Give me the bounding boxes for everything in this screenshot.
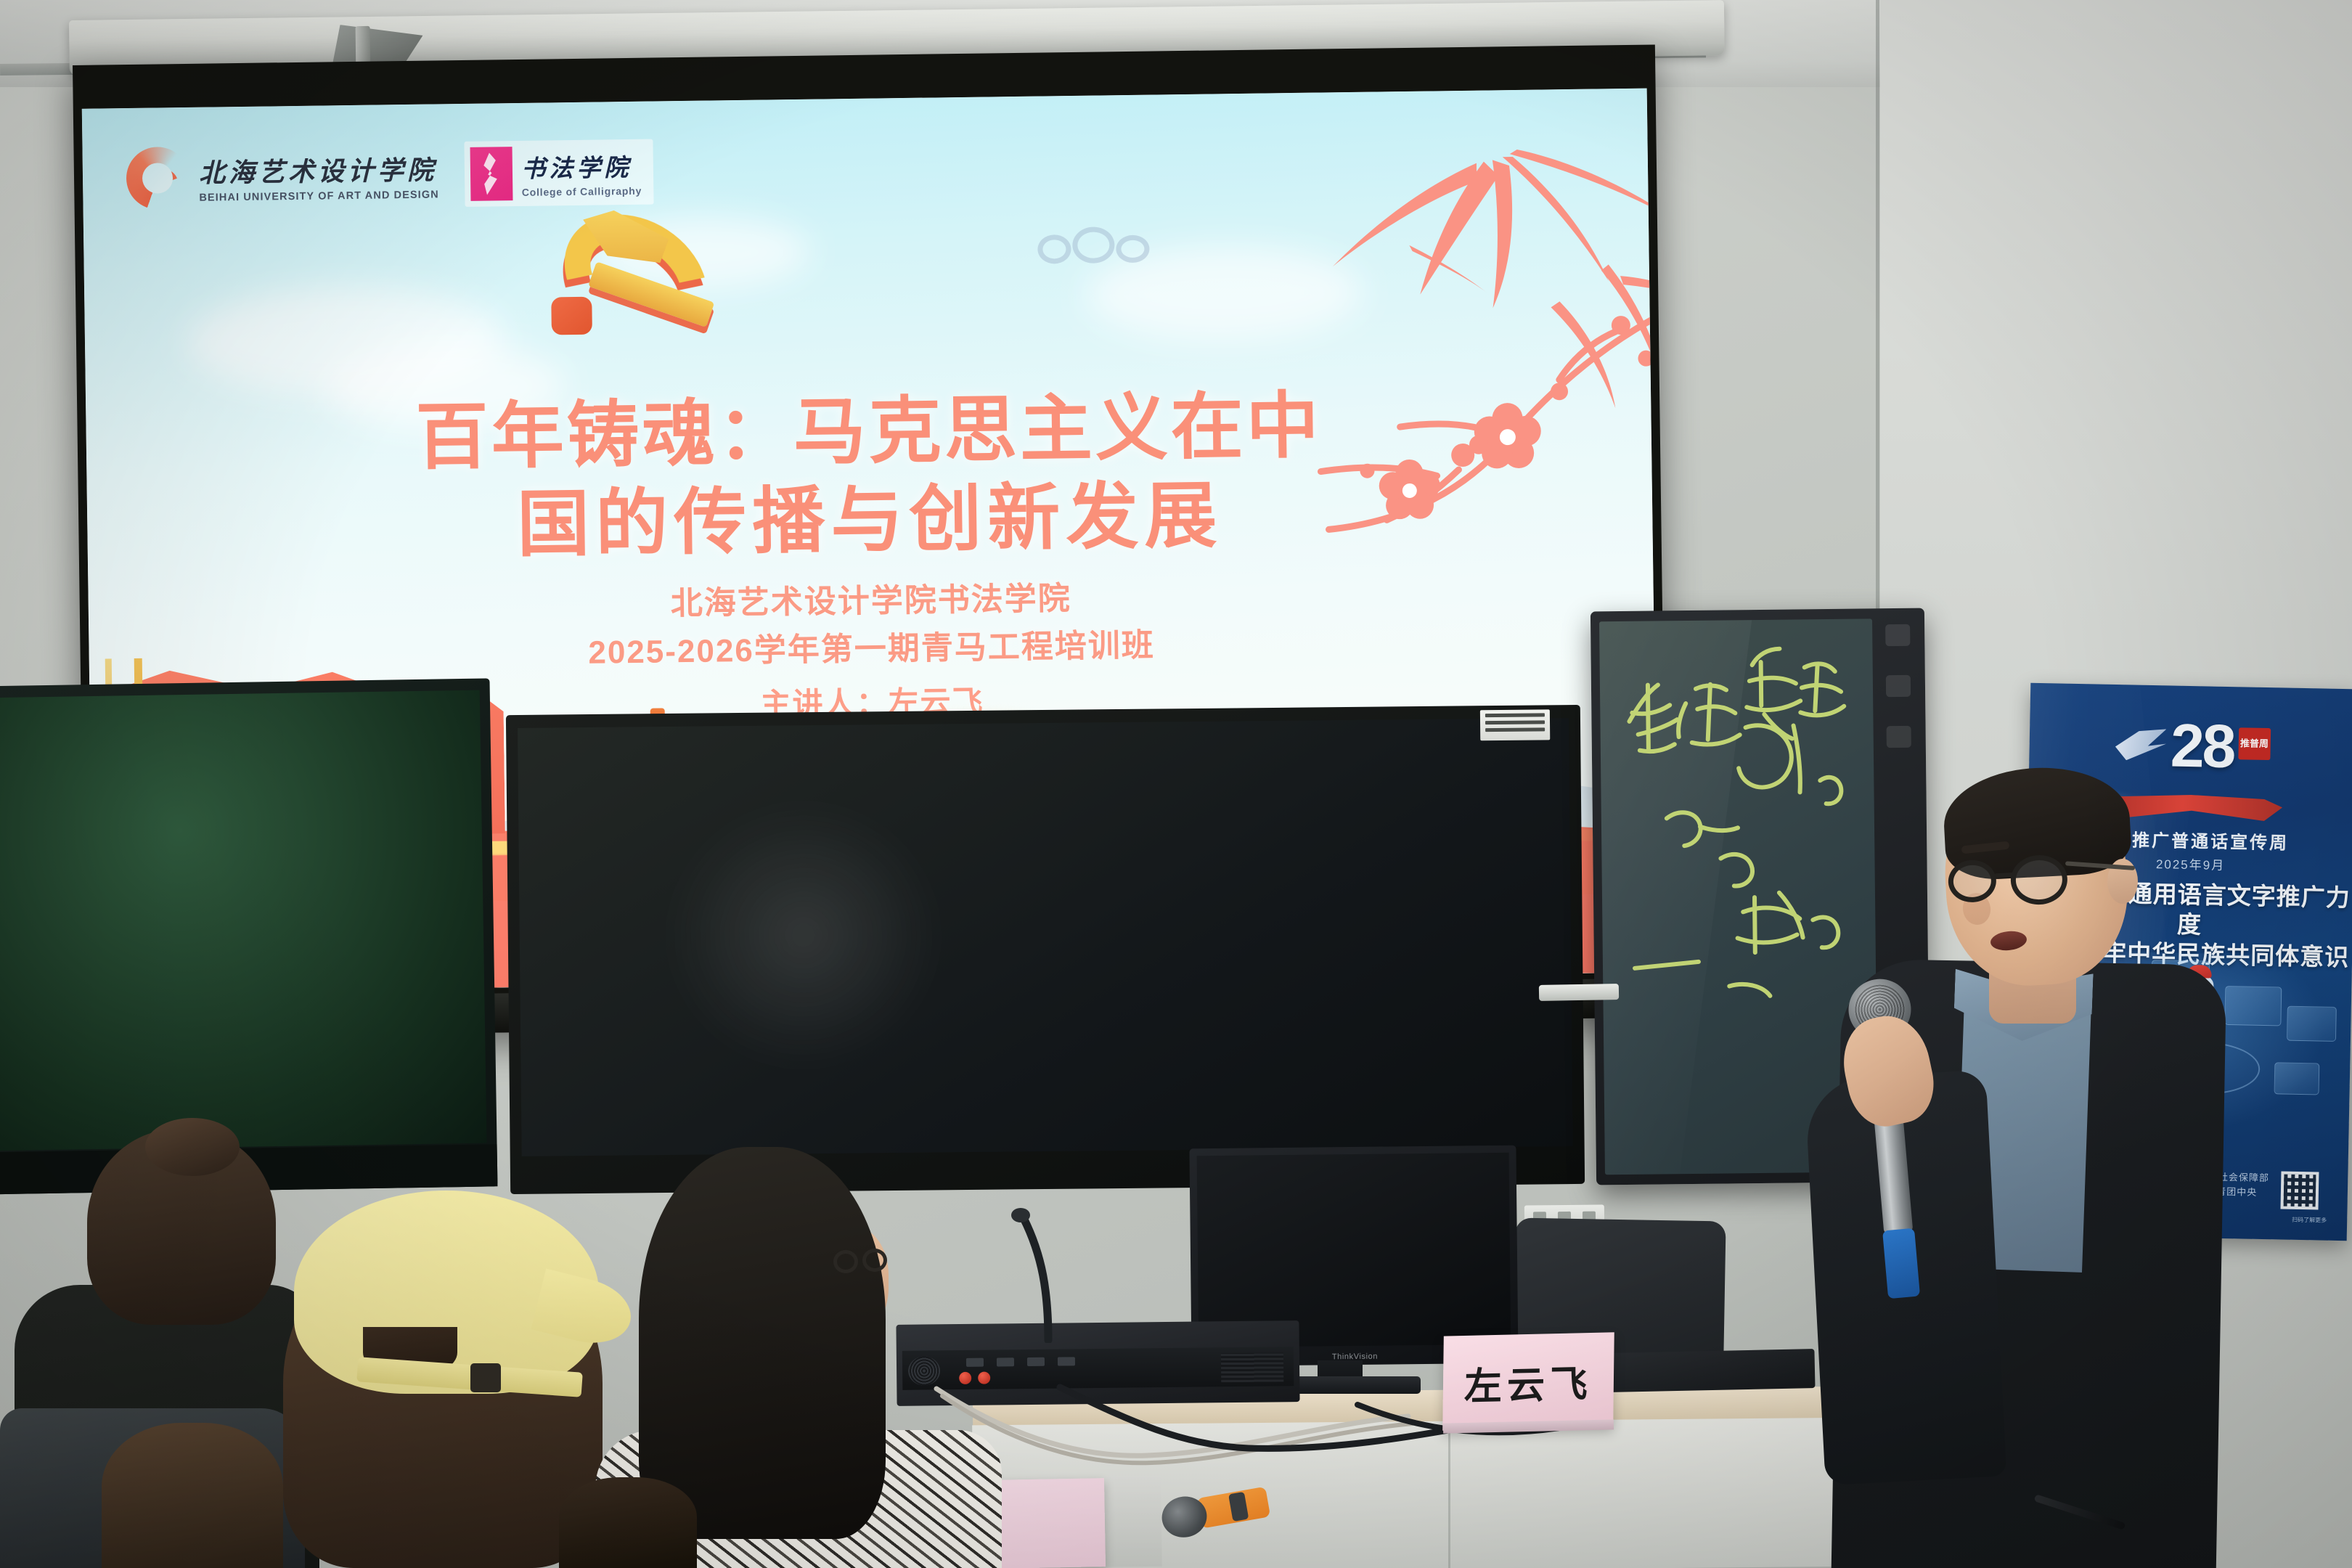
poster-badge: 推普周 [2238, 727, 2271, 760]
audience-glasses-icon [833, 1249, 890, 1278]
amplifier-vent [908, 1356, 940, 1385]
audience-member-5 [559, 1477, 697, 1568]
wall-display-left [0, 678, 497, 1194]
speaker-name-card: 左云飞 [1442, 1332, 1614, 1430]
speaker-name-card-text: 左云飞 [1464, 1352, 1593, 1410]
chalk-handwriting [1609, 632, 1853, 1041]
screenshot-stage: 北海艺术设计学院 BEIHAI UNIVERSITY OF ART AND DE… [0, 0, 2352, 1568]
university-logo: 北海艺术设计学院 BEIHAI UNIVERSITY OF ART AND DE… [126, 143, 438, 210]
poster-badge-label: 推普周 [2240, 738, 2269, 748]
poster-number: 28 [2170, 717, 2234, 775]
university-name-en: BEIHAI UNIVERSITY OF ART AND DESIGN [199, 189, 439, 203]
audience-member-4 [102, 1423, 283, 1568]
board-controls[interactable] [1881, 624, 1916, 748]
board-power-icon[interactable] [1887, 726, 1911, 748]
poster-qr-caption: 扫码了解更多 [2292, 1216, 2327, 1225]
college-name-cn: 书法学院 [521, 147, 642, 184]
slide-title: 百年铸魂：马克思主义在中 国的传播与创新发展 [86, 377, 1653, 575]
university-name-cn: 北海艺术设计学院 [199, 149, 439, 189]
monitor-screen [1197, 1153, 1511, 1347]
board-source-icon[interactable] [1886, 675, 1911, 697]
board-menu-icon[interactable] [1885, 624, 1910, 646]
poster-qr-code [2280, 1172, 2319, 1210]
amplifier-grill [1221, 1352, 1283, 1382]
calligraphy-mark-icon [470, 147, 513, 201]
swirl-icon [126, 147, 189, 210]
poster-swoosh-icon [2115, 728, 2167, 761]
wall-display-center [506, 705, 1585, 1194]
presenter-glasses [1943, 850, 2136, 912]
cpc-emblem-icon [529, 186, 742, 356]
auspicious-cloud-icon [1034, 221, 1173, 274]
chalk-tray [1539, 984, 1619, 1001]
poster-header: 28 推普周 [2029, 715, 2352, 777]
display-sticker [1480, 709, 1550, 740]
gooseneck-microphone[interactable] [973, 1205, 1125, 1343]
